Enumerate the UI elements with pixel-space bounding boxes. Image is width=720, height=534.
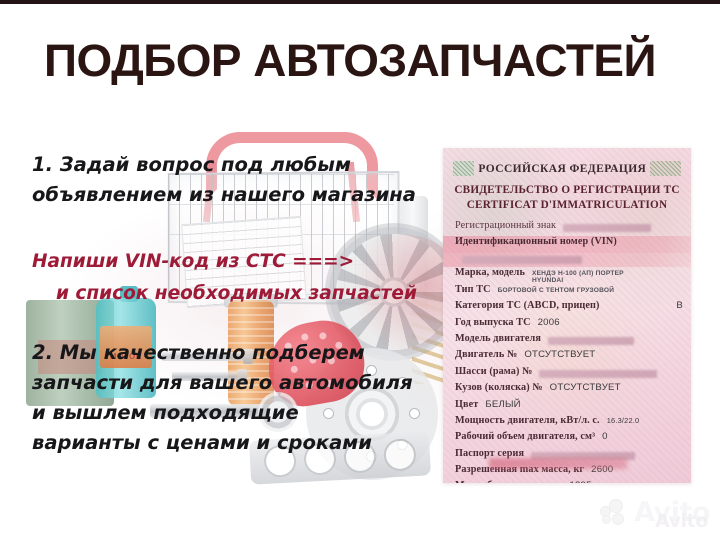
vehicle-registration-certificate: РОССИЙСКАЯ ФЕДЕРАЦИЯ СВИДЕТЕЛЬСТВО О РЕГ…	[443, 148, 691, 483]
document-title-ru: СВИДЕТЕЛЬСТВО О РЕГИСТРАЦИИ ТС	[443, 184, 691, 196]
document-field-redacted	[462, 256, 582, 264]
vin-callout-line-2: и список необходимых запчастей	[32, 278, 417, 310]
document-title-fr: CERTIFICAT D'IMMATRICULATION	[443, 199, 691, 211]
step-2-line-2: запчасти для вашего автомобиля	[32, 368, 413, 398]
document-field-label: Кузов (коляска) №	[455, 382, 543, 393]
avito-watermark: Avito	[601, 498, 710, 526]
top-edge-strip	[0, 0, 720, 4]
document-federation-label: РОССИЙСКАЯ ФЕДЕРАЦИЯ	[474, 163, 650, 175]
document-field-row: Марка, модельХЕНДЭ Н-100 (АП) ПОРТЕР HYU…	[455, 267, 683, 283]
document-field-redacted	[539, 370, 657, 378]
step-2-line-4: варианты с ценами и сроками	[32, 428, 413, 458]
vin-callout-line-1: Напиши VIN-код из СТС ===>	[32, 246, 417, 278]
document-field-redacted	[548, 337, 634, 345]
vin-callout-text: Напиши VIN-код из СТС ===> и список необ…	[32, 246, 417, 310]
document-field-label: Категория ТС (ABCD, прицеп)	[455, 300, 599, 311]
document-field-label: Масса без нагрузки, кг	[455, 480, 562, 483]
document-field-row: Шасси (рама) №	[455, 366, 683, 382]
document-field-row: Масса без нагрузки, кг1895	[455, 480, 683, 483]
step-1-line-2: объявлением из нашего магазина	[32, 180, 416, 210]
document-field-value: В	[676, 300, 683, 311]
step-2-line-3: и вышлем подходящие	[32, 398, 413, 428]
avito-wordmark: Avito	[634, 499, 710, 526]
document-field-row: Кузов (коляска) №ОТСУТСТВУЕТ	[455, 382, 683, 398]
document-field-row: Двигатель №ОТСУТСТВУЕТ	[455, 349, 683, 365]
document-field-value: ОТСУТСТВУЕТ	[550, 382, 621, 393]
document-field-label: Регистрационный знак	[455, 220, 556, 231]
document-field-row: ЦветБЕЛЫЙ	[455, 399, 683, 415]
document-field-label: Шасси (рама) №	[455, 366, 532, 377]
document-field-label: Модель двигателя	[455, 333, 541, 344]
document-field-row: Регистрационный знак	[455, 220, 683, 236]
document-field-label: Мощность двигателя, кВт/л. с.	[455, 415, 600, 426]
security-guilloche-right	[650, 161, 681, 176]
promo-poster: MOTOR ПОДБОР АВТОЗАПЧАСТЕЙ 1. Задай вопр…	[0, 0, 720, 534]
document-field-row: Модель двигателя	[455, 333, 683, 349]
document-field-value: 0	[602, 431, 608, 442]
document-field-row: Идентификационный номер (VIN)	[443, 236, 691, 253]
security-guilloche-left	[453, 161, 474, 176]
document-bottom-redaction	[489, 458, 627, 469]
document-field-label: Цвет	[455, 399, 478, 410]
avito-logo-icon	[601, 498, 631, 526]
document-field-value: 2006	[538, 317, 560, 328]
document-field-row: Рабочий объем двигателя, см³0	[455, 431, 683, 447]
document-field-value: БЕЛЫЙ	[485, 399, 520, 410]
step-1-line-1: 1. Задай вопрос под любым	[32, 150, 416, 180]
document-field-row: Год выпуска ТС2006	[455, 317, 683, 333]
document-field-label: Рабочий объем двигателя, см³	[455, 431, 595, 442]
document-field-value: 16.3/22.0	[607, 416, 640, 425]
step-2-line-1: 2. Мы качественно подберем	[32, 338, 413, 368]
document-field-row	[443, 253, 691, 267]
document-field-label: Двигатель №	[455, 349, 517, 360]
document-federation-band: РОССИЙСКАЯ ФЕДЕРАЦИЯ	[453, 160, 681, 177]
document-field-value: 1895	[569, 480, 591, 483]
page-title: ПОДБОР АВТОЗАПЧАСТЕЙ	[44, 38, 656, 83]
document-field-value: ОТСУТСТВУЕТ	[524, 349, 595, 360]
document-field-row: Тип ТСБОРТОВОЙ С ТЕНТОМ ГРУЗОВОЙ	[455, 284, 683, 300]
document-field-value: БОРТОВОЙ С ТЕНТОМ ГРУЗОВОЙ	[498, 287, 615, 294]
document-field-value: ХЕНДЭ Н-100 (АП) ПОРТЕР HYUNDAI	[532, 270, 624, 284]
document-field-label: Марка, модель	[455, 267, 525, 278]
document-field-row: Категория ТС (ABCD, прицеп)В	[455, 300, 683, 316]
document-field-redacted	[563, 224, 651, 232]
document-field-label: Идентификационный номер (VIN)	[455, 236, 617, 247]
step-2-text: 2. Мы качественно подберем запчасти для …	[32, 338, 413, 458]
document-field-row: Мощность двигателя, кВт/л. с.16.3/22.0	[455, 415, 683, 431]
step-1-text: 1. Задай вопрос под любым объявлением из…	[32, 150, 416, 210]
document-field-list: Регистрационный знакИдентификационный но…	[455, 220, 683, 483]
document-field-label: Год выпуска ТС	[455, 317, 531, 328]
document-field-label: Тип ТС	[455, 284, 491, 295]
